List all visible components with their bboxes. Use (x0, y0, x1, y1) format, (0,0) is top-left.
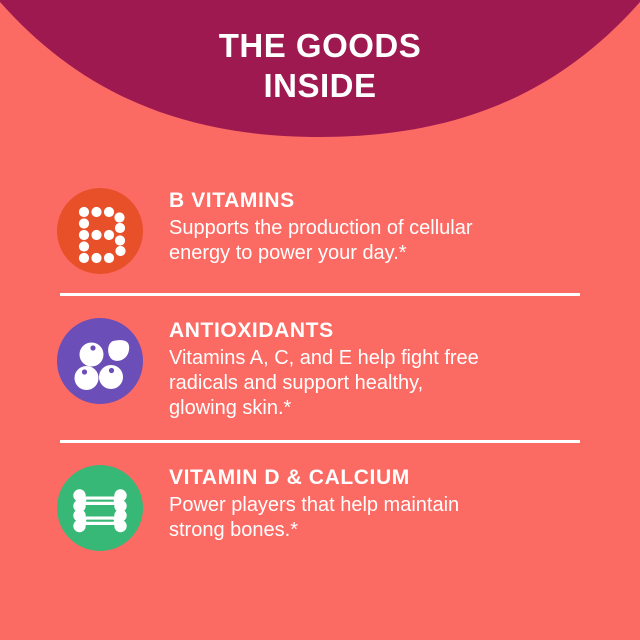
benefit-description: Power players that help maintain strong … (169, 493, 580, 543)
bones-icon (57, 465, 143, 551)
benefit-row-antioxidants: ANTIOXIDANTS Vitamins A, C, and E help f… (0, 296, 640, 421)
benefit-row-b-vitamins: B VITAMINS Supports the production of ce… (0, 166, 640, 274)
benefit-title: VITAMIN D & CALCIUM (169, 465, 580, 490)
benefits-list: B VITAMINS Supports the production of ce… (0, 166, 640, 551)
benefit-text-antioxidants: ANTIOXIDANTS Vitamins A, C, and E help f… (143, 316, 580, 421)
benefit-title: ANTIOXIDANTS (169, 318, 580, 343)
b-vitamins-icon-badge (57, 188, 143, 274)
benefit-title: B VITAMINS (169, 188, 580, 213)
benefit-text-vitamin-d-calcium: VITAMIN D & CALCIUM Power players that h… (143, 463, 580, 543)
benefit-description: Supports the production of cellular ener… (169, 216, 580, 266)
benefit-row-vitamin-d-calcium: VITAMIN D & CALCIUM Power players that h… (0, 443, 640, 551)
b-vitamins-dot-letter-icon (57, 188, 143, 274)
header-banner: THE GOODS INSIDE (0, 0, 640, 145)
page-title: THE GOODS INSIDE (0, 26, 640, 106)
calcium-icon-badge (57, 465, 143, 551)
benefit-description: Vitamins A, C, and E help fight free rad… (169, 346, 580, 421)
antioxidants-icon-badge (57, 318, 143, 404)
promo-graphic: THE GOODS INSIDE (0, 0, 640, 640)
berries-icon (57, 318, 143, 404)
benefit-text-b-vitamins: B VITAMINS Supports the production of ce… (143, 186, 580, 266)
